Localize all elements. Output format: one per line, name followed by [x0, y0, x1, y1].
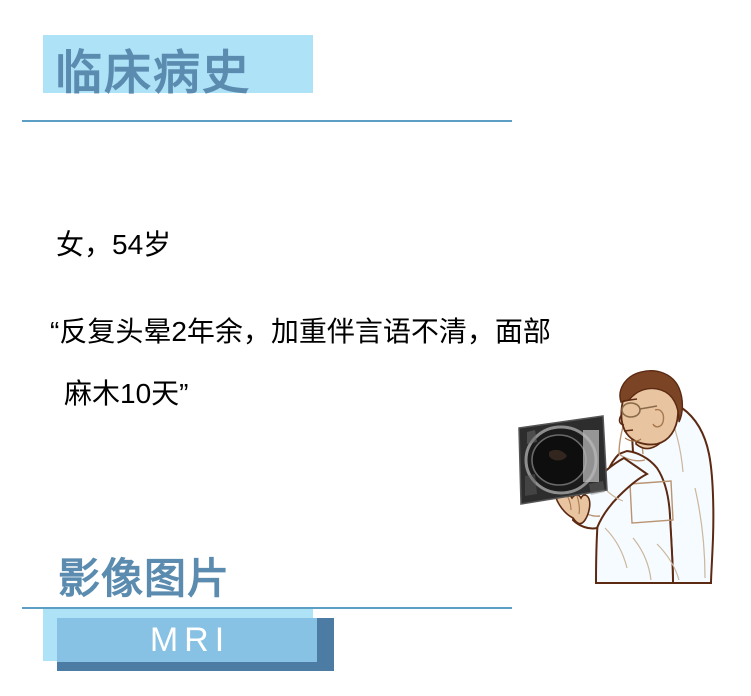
imaging-section: 影像图片 MRI [0, 540, 751, 696]
mri-bright-band [583, 430, 599, 482]
mri-modality-label: MRI [57, 618, 317, 662]
mri-speckle-b [525, 474, 537, 496]
mri-film-image [519, 416, 607, 504]
mouth-line [624, 430, 633, 431]
chief-complaint-line-2: 麻木10天” [64, 377, 188, 411]
chief-complaint-line-1: “反复头晕2年余，加重伴言语不清，面部 [50, 315, 551, 349]
patient-demographics-line: 女，54岁 [56, 228, 171, 262]
clinical-history-title: 临床病史 [55, 42, 251, 104]
clinical-history-section: 临床病史 [0, 0, 751, 130]
imaging-section-title: 影像图片 [58, 552, 230, 606]
clinical-title-divider [22, 120, 512, 122]
